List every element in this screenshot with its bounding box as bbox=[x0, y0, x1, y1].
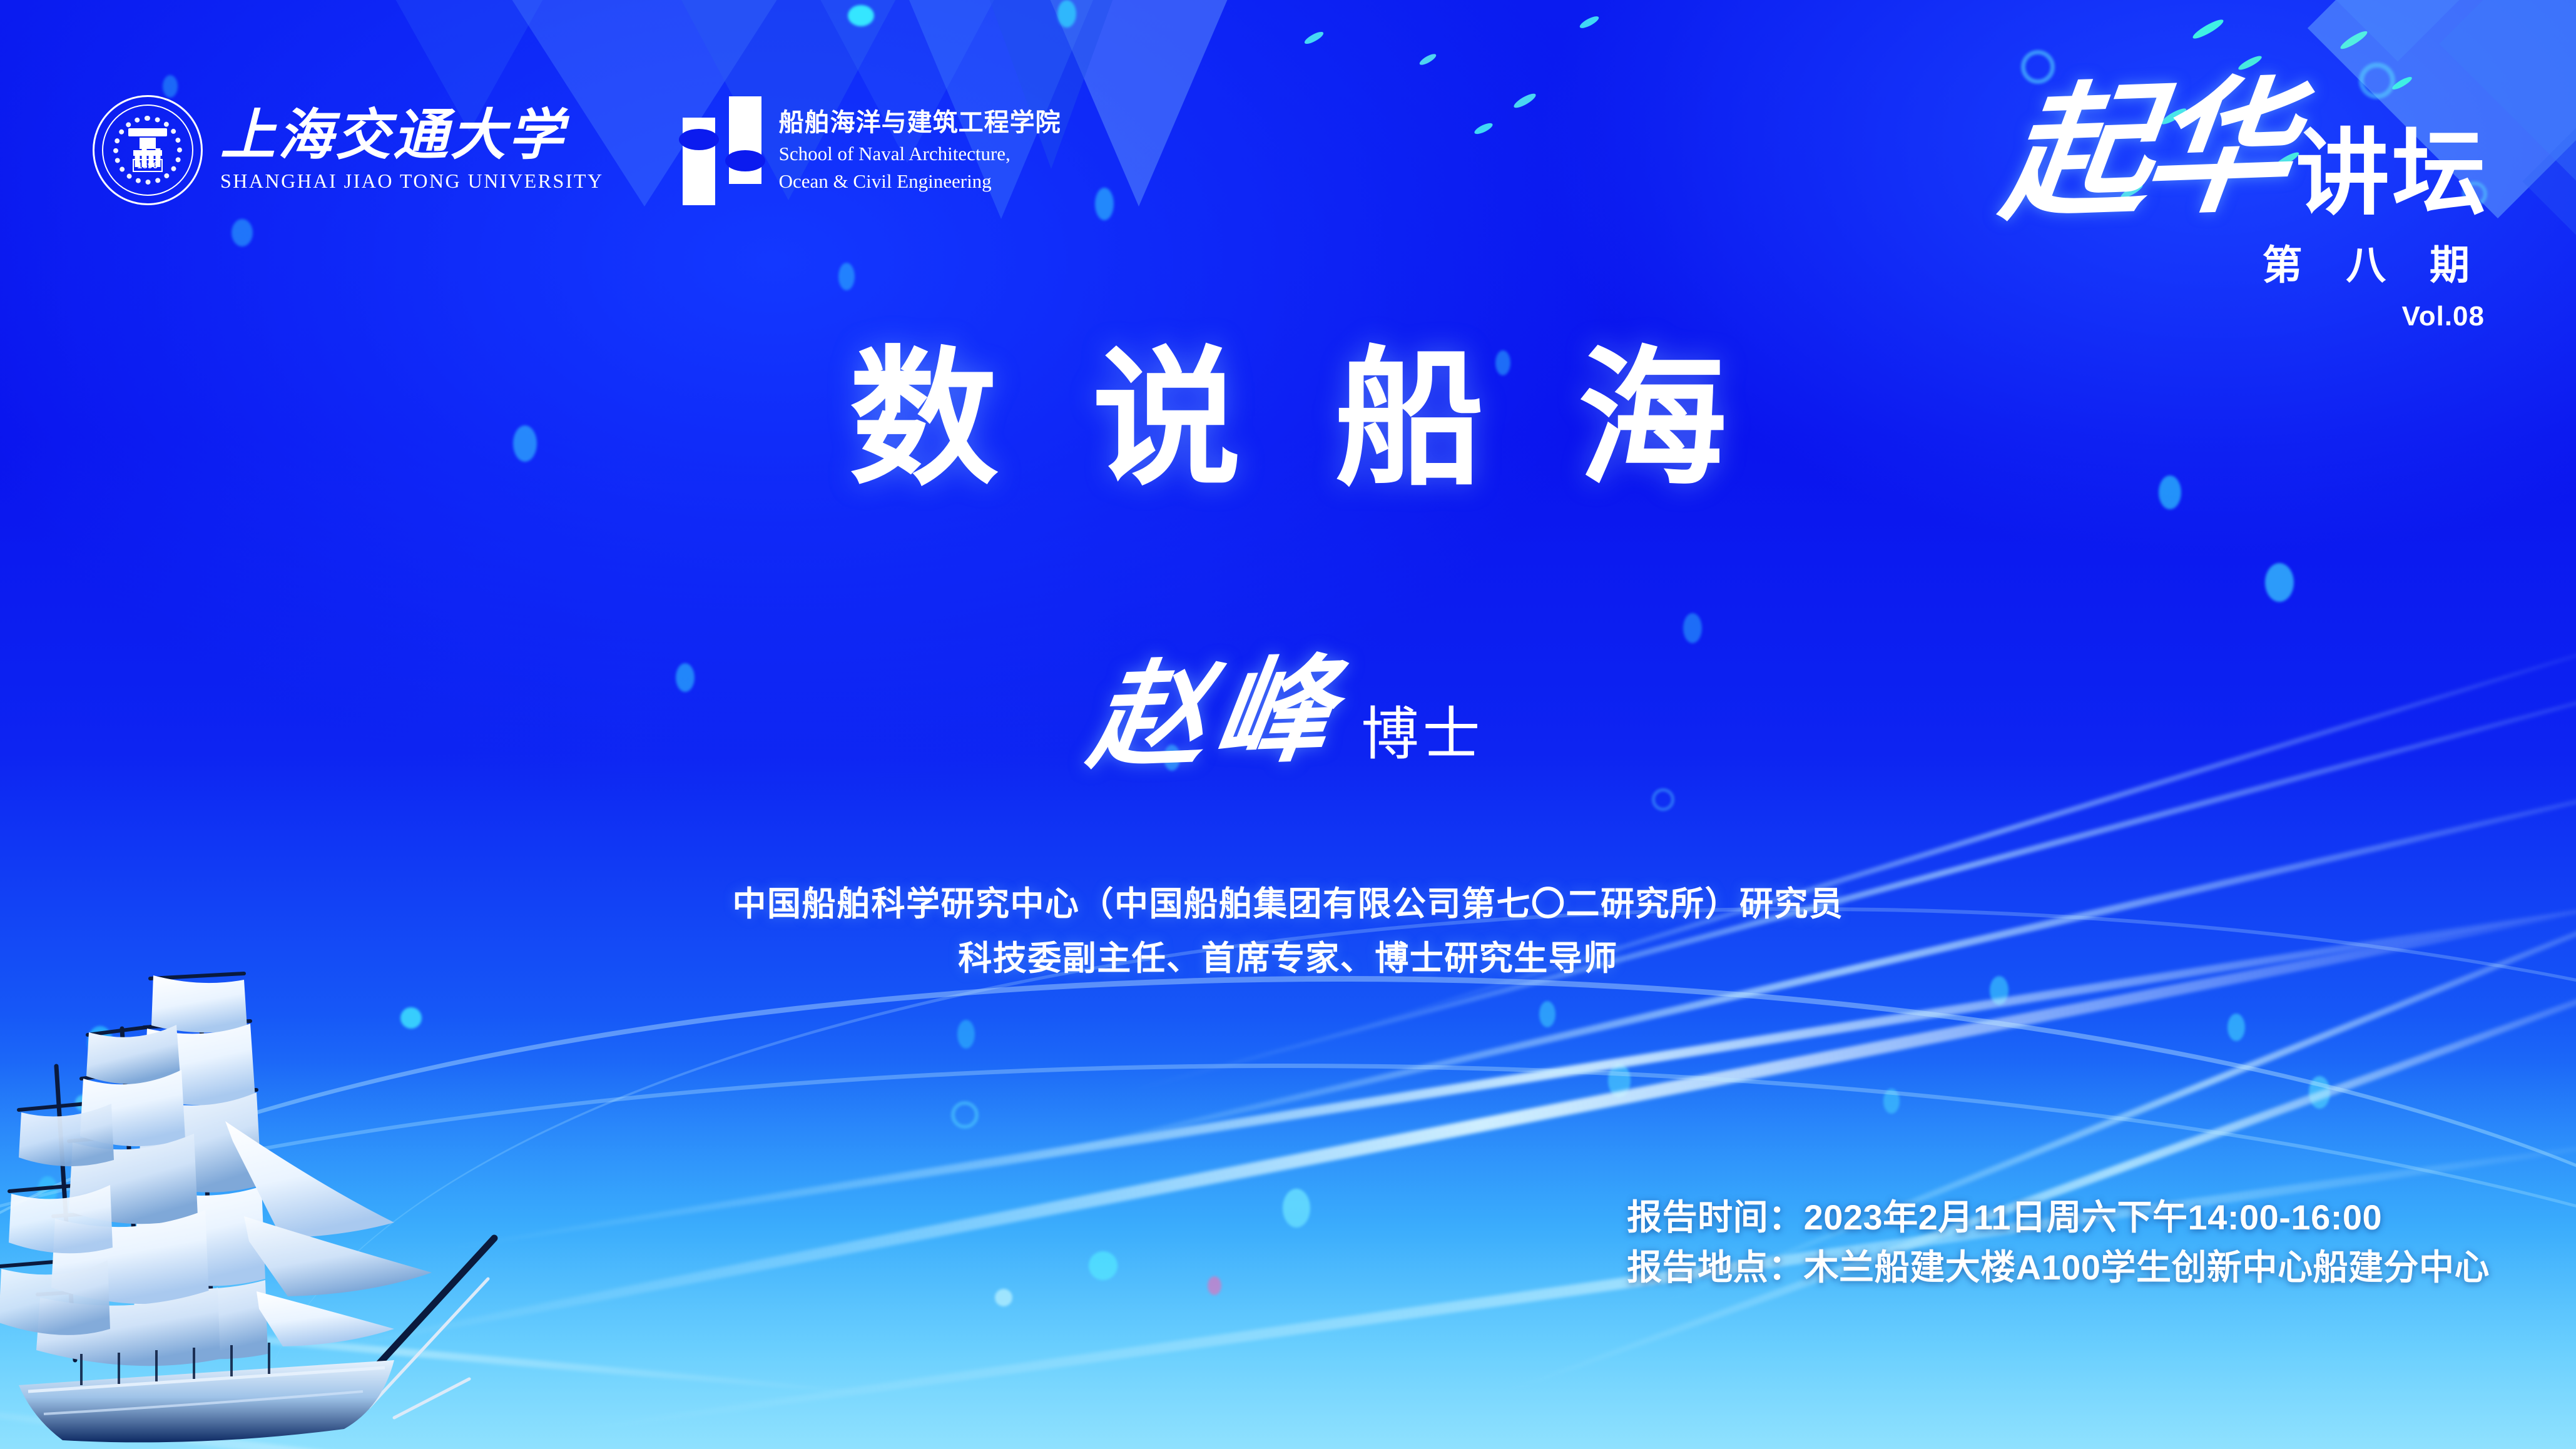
light-streak bbox=[0, 1395, 994, 1449]
bg-dash bbox=[2339, 29, 2370, 52]
bg-dash bbox=[1303, 29, 1325, 46]
bg-bokeh bbox=[838, 263, 855, 290]
school-name-en-line1: School of Naval Architecture, bbox=[779, 141, 1061, 166]
bg-bokeh bbox=[1283, 1189, 1310, 1228]
bg-bokeh bbox=[995, 1289, 1012, 1306]
speaker-block: 赵峰 博士 bbox=[0, 657, 2576, 772]
bg-dash bbox=[1473, 121, 1494, 136]
light-streak bbox=[0, 1308, 873, 1397]
light-streak bbox=[1500, 940, 2576, 1397]
seal-year-label: 1896 bbox=[133, 159, 162, 173]
speaker-affiliation: 中国船舶科学研究中心（中国船舶集团有限公司第七〇二研究所）研究员 科技委副主任、… bbox=[0, 877, 2576, 987]
bg-bokeh bbox=[400, 1007, 422, 1029]
bg-bokeh bbox=[2265, 563, 2294, 602]
bg-bokeh bbox=[2309, 1076, 2330, 1109]
bg-dash bbox=[1418, 52, 1438, 67]
school-logo-group: 船舶海洋与建筑工程学院 School of Naval Architecture… bbox=[683, 96, 1061, 204]
bg-dash bbox=[1578, 14, 1600, 31]
seal-books-icon bbox=[135, 146, 161, 167]
bg-bokeh bbox=[1683, 613, 1702, 643]
forum-issue-label: 第 八 期 bbox=[2005, 233, 2488, 291]
snaoce-wave-cut-left bbox=[679, 129, 719, 150]
bg-bokeh bbox=[1608, 1064, 1631, 1097]
event-time: 报告时间：2023年2月11日周六下午14:00-16:00 bbox=[1627, 1192, 2490, 1243]
bg-bokeh bbox=[1883, 1089, 1900, 1114]
forum-brand-calligraphy: 起华 bbox=[1997, 83, 2294, 223]
bg-diamond bbox=[2252, 0, 2544, 61]
bg-bokeh bbox=[163, 75, 178, 98]
bg-bokeh bbox=[1057, 0, 1076, 28]
bg-bokeh-ring bbox=[1652, 788, 1674, 811]
affiliation-line-2: 科技委副主任、首席专家、博士研究生导师 bbox=[0, 932, 2576, 986]
forum-brand: 起华 讲坛 第 八 期 Vol.08 bbox=[2005, 88, 2488, 332]
forum-brand-row: 起华 讲坛 bbox=[2005, 88, 2488, 218]
header-logos: 1896 上海交通大学 SHANGHAI JIAO TONG UNIVERSIT… bbox=[93, 95, 1061, 205]
bg-bokeh bbox=[1539, 1001, 1555, 1027]
page-title: 数 说 船 海 bbox=[0, 345, 2576, 494]
poster-canvas: 1896 上海交通大学 SHANGHAI JIAO TONG UNIVERSIT… bbox=[0, 0, 2576, 1449]
bg-dash bbox=[2191, 17, 2226, 41]
bg-bokeh bbox=[75, 1095, 91, 1111]
bg-bokeh bbox=[1095, 188, 1114, 220]
school-name-en-line2: Ocean & Civil Engineering bbox=[779, 169, 1061, 194]
bg-bokeh bbox=[2227, 1014, 2245, 1041]
speaker-name: 赵峰 bbox=[1083, 653, 1348, 776]
university-name-en: SHANGHAI JIAO TONG UNIVERSITY bbox=[220, 170, 604, 193]
event-place: 报告地点：木兰船建大楼A100学生创新中心船建分中心 bbox=[1627, 1243, 2490, 1293]
seal-anvil-icon bbox=[128, 128, 167, 136]
university-wordmark: 上海交通大学 SHANGHAI JIAO TONG UNIVERSITY bbox=[220, 108, 604, 192]
affiliation-line-1: 中国船舶科学研究中心（中国船舶集团有限公司第七〇二研究所）研究员 bbox=[0, 877, 2576, 932]
university-logo-group: 1896 上海交通大学 SHANGHAI JIAO TONG UNIVERSIT… bbox=[93, 95, 604, 205]
school-wordmark: 船舶海洋与建筑工程学院 School of Naval Architecture… bbox=[779, 106, 1061, 193]
sjtu-seal-icon: 1896 bbox=[93, 95, 203, 205]
seal-core: 1896 bbox=[122, 125, 173, 176]
event-info: 报告时间：2023年2月11日周六下午14:00-16:00 报告地点：木兰船建… bbox=[1627, 1192, 2490, 1292]
snaoce-wave-cut-right bbox=[725, 150, 765, 171]
wave-arc bbox=[258, 907, 2576, 1449]
speaker-degree: 博士 bbox=[1362, 706, 1484, 772]
bg-diamond bbox=[2522, 84, 2576, 278]
sailing-ship-illustration bbox=[0, 953, 538, 1449]
forum-volume-label: Vol.08 bbox=[2005, 301, 2488, 332]
university-name-cn: 上海交通大学 bbox=[220, 108, 604, 165]
bg-bokeh-ring bbox=[951, 1101, 979, 1129]
school-name-cn: 船舶海洋与建筑工程学院 bbox=[779, 106, 1061, 139]
bg-bokeh bbox=[848, 5, 874, 26]
bg-bokeh bbox=[1089, 1251, 1117, 1280]
bg-bokeh bbox=[232, 219, 253, 247]
forum-brand-plain: 讲坛 bbox=[2296, 129, 2488, 218]
bg-bokeh bbox=[957, 1020, 975, 1049]
bg-bokeh bbox=[1208, 1276, 1221, 1295]
seal-base-icon bbox=[133, 150, 162, 156]
bg-bokeh bbox=[38, 1176, 58, 1204]
bg-bokeh bbox=[88, 1026, 113, 1057]
seal-stand-icon bbox=[140, 138, 156, 149]
bg-dash bbox=[1512, 91, 1538, 110]
snaoce-logo-icon bbox=[683, 96, 761, 204]
